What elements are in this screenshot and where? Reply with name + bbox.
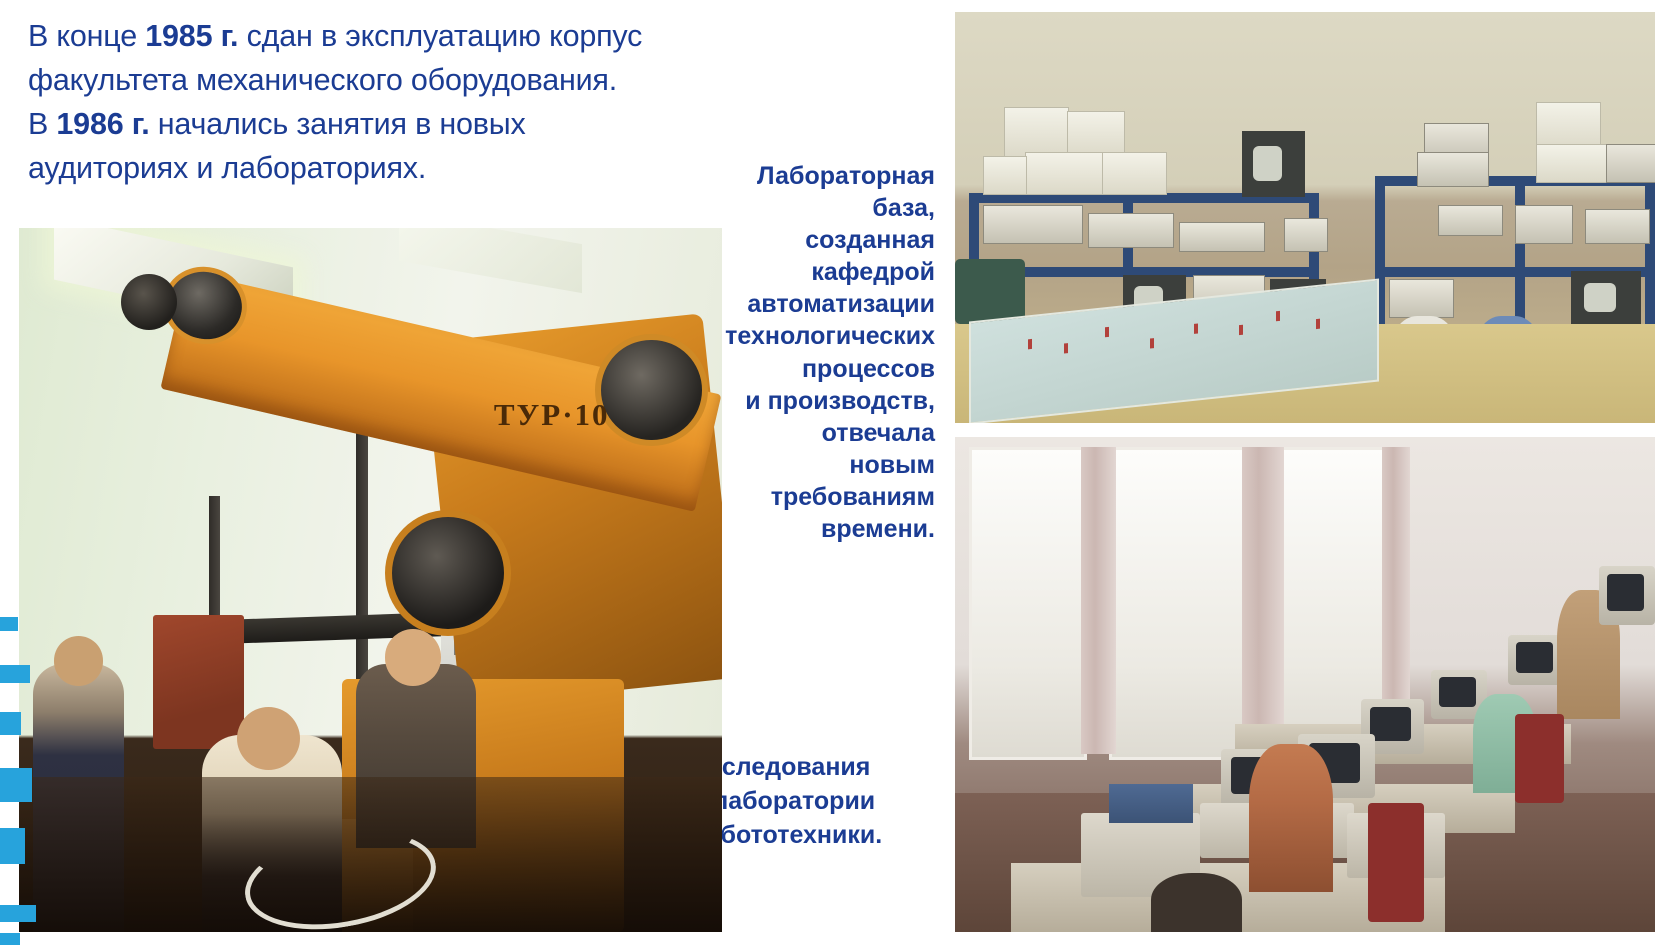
- caption-lab-line-2: база,: [620, 192, 935, 224]
- student-foreground: [1249, 744, 1333, 893]
- caption-robotics-line-3: робототехники.: [690, 818, 935, 852]
- window-2: [1109, 447, 1255, 760]
- panel-pin-7: [1276, 310, 1280, 320]
- photo-computers-scene: [955, 437, 1655, 932]
- blue-stripe-6: [0, 905, 36, 922]
- robot-joint-cap-1: [595, 334, 707, 447]
- curtain-2: [1242, 447, 1284, 754]
- caption-robotics-line-1: Исследования: [690, 750, 935, 784]
- student-back-of-head: [1151, 873, 1242, 932]
- headline-line-4: аудиториях и лабораториях.: [28, 146, 688, 190]
- headline-line-3: В 1986 г. начались занятия в новых: [28, 102, 688, 146]
- robot-joint-cap-2: [385, 510, 512, 637]
- chair-near: [1368, 803, 1424, 922]
- window-1: [969, 447, 1087, 760]
- monitor-far-3: [1508, 635, 1564, 685]
- blue-stripe-2: [0, 665, 30, 683]
- blue-stripe-7: [0, 933, 20, 945]
- blue-stripe-3: [0, 712, 21, 735]
- panel-pin-8: [1316, 318, 1320, 328]
- photo-lab-scene: [955, 12, 1655, 423]
- oscilloscope-lower-3: [1571, 271, 1641, 324]
- blue-stripe-4: [0, 768, 32, 802]
- panel-pin-6: [1239, 324, 1243, 334]
- chair-far: [1515, 714, 1564, 803]
- panel-pin-5: [1194, 323, 1198, 333]
- robot-model-label: ТУР·10: [494, 397, 610, 433]
- robot-arm-hub: [121, 274, 177, 330]
- slide-canvas: В конце 1985 г. сдан в эксплуатацию корп…: [0, 0, 1680, 945]
- curtain-1: [1081, 447, 1116, 754]
- person-crouching-center-head: [237, 707, 300, 770]
- storage-box-3: [1025, 152, 1104, 195]
- instrument-shelf-5: [1438, 205, 1503, 236]
- instrument-shelf-6: [1515, 205, 1573, 244]
- instrument-shelf-1: [983, 205, 1083, 244]
- instrument-shelf-4: [1284, 218, 1328, 253]
- instrument-shelf-2: [1088, 213, 1174, 248]
- headline-line-2: факультета механического оборудования.: [28, 58, 688, 102]
- instrument-top-2: [1417, 152, 1489, 187]
- printer-near-cover: [1109, 784, 1193, 824]
- headline-line-3-prefix: В: [28, 107, 56, 141]
- page-title: В конце 1985 г. сдан в эксплуатацию корп…: [28, 14, 688, 190]
- panel-pin-4: [1150, 337, 1154, 347]
- chair-1: [955, 259, 1025, 325]
- storage-box-1: [1004, 107, 1069, 158]
- oscilloscope-top: [1242, 131, 1305, 197]
- blue-stripe-1: [0, 617, 18, 631]
- ceiling-lamp-2-icon: [399, 228, 582, 293]
- caption-robotics-line-2: в лаборатории: [690, 784, 935, 818]
- headline-line-1-suffix: сдан в эксплуатацию корпус: [238, 19, 642, 53]
- headline-line-3-suffix: начались занятия в новых: [149, 107, 525, 141]
- storage-box-7: [1536, 144, 1608, 183]
- instrument-shelf-3: [1179, 222, 1265, 253]
- instrument-top-3: [1606, 144, 1655, 183]
- blue-stripe-5: [0, 828, 25, 864]
- headline-line-1: В конце 1985 г. сдан в эксплуатацию корп…: [28, 14, 688, 58]
- panel-pin-3: [1105, 326, 1109, 336]
- instrument-shelf-7: [1585, 209, 1650, 244]
- red-motor-block: [153, 615, 244, 749]
- robot-tur-10-laboratory-photo: ТУР·10: [19, 228, 722, 932]
- photo-robot-scene: ТУР·10: [19, 228, 722, 932]
- headline-year-1986: 1986 г.: [56, 107, 149, 141]
- panel-pin-2: [1064, 342, 1068, 352]
- computer-classroom-photo: [955, 437, 1655, 932]
- person-left-head: [54, 636, 103, 685]
- panel-pin-1: [1028, 338, 1032, 348]
- electronics-laboratory-photo: [955, 12, 1655, 423]
- caption-lab-line-1: Лабораторная: [620, 160, 935, 192]
- storage-box-6: [1536, 102, 1601, 149]
- storage-box-4: [1102, 152, 1167, 195]
- instrument-lower-2: [1389, 279, 1454, 318]
- storage-box-2: [1067, 111, 1125, 158]
- equipment-rack: [1599, 566, 1655, 625]
- storage-box-5: [983, 156, 1027, 195]
- headline-line-1-prefix: В конце: [28, 19, 145, 53]
- headline-year-1985: 1985 г.: [145, 19, 238, 53]
- person-standing-right-head: [385, 629, 441, 685]
